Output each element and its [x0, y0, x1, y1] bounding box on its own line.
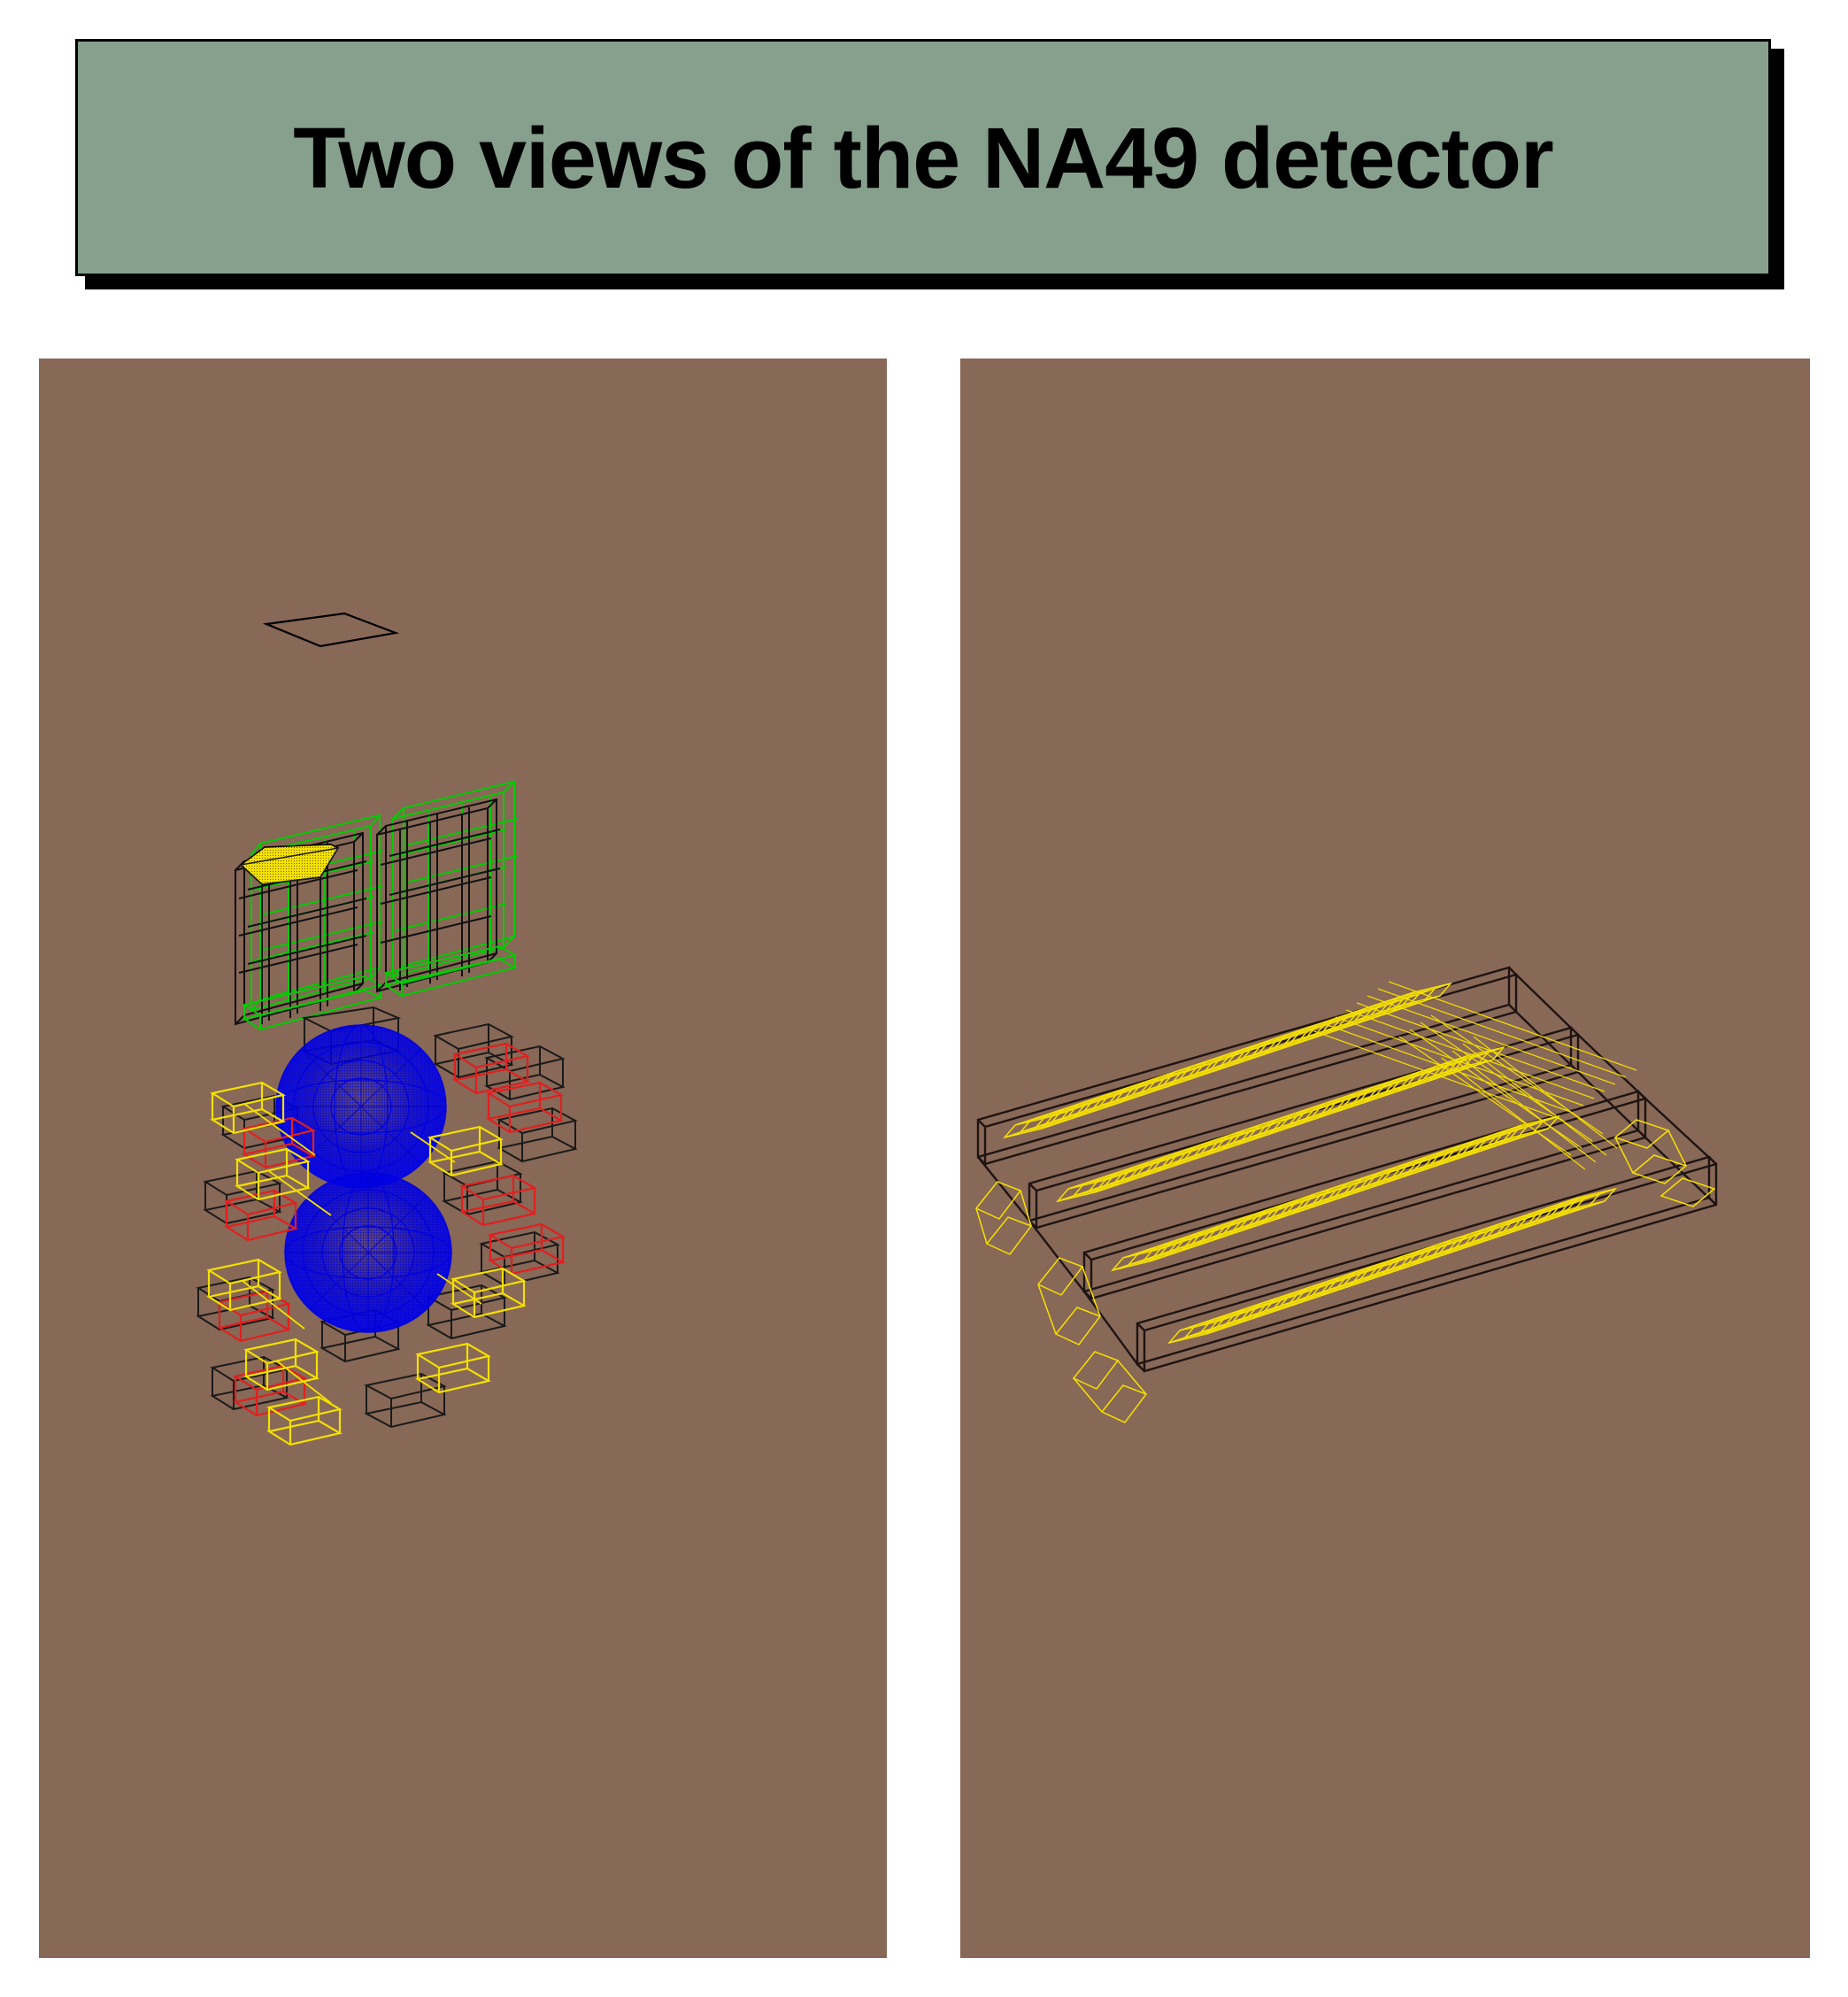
vertex-magnet-lower [285, 1173, 451, 1332]
tpc-outer-frame [978, 968, 1716, 1371]
detector-wireframe-view-2 [960, 359, 1810, 1958]
target-plane-wireframe [266, 613, 396, 646]
page-title: Two views of the NA49 detector [293, 115, 1552, 201]
pad-row-slab-a [1005, 983, 1451, 1137]
detector-view-panel-right [960, 359, 1810, 1958]
title-banner: Two views of the NA49 detector [75, 39, 1771, 276]
detector-wireframe-view-1 [39, 359, 887, 1958]
tpc-pad-rows [976, 982, 1714, 1423]
tpc-chamber-right [377, 782, 517, 996]
detector-view-panel-left [39, 359, 887, 1958]
title-banner-container: Two views of the NA49 detector [75, 39, 1775, 280]
